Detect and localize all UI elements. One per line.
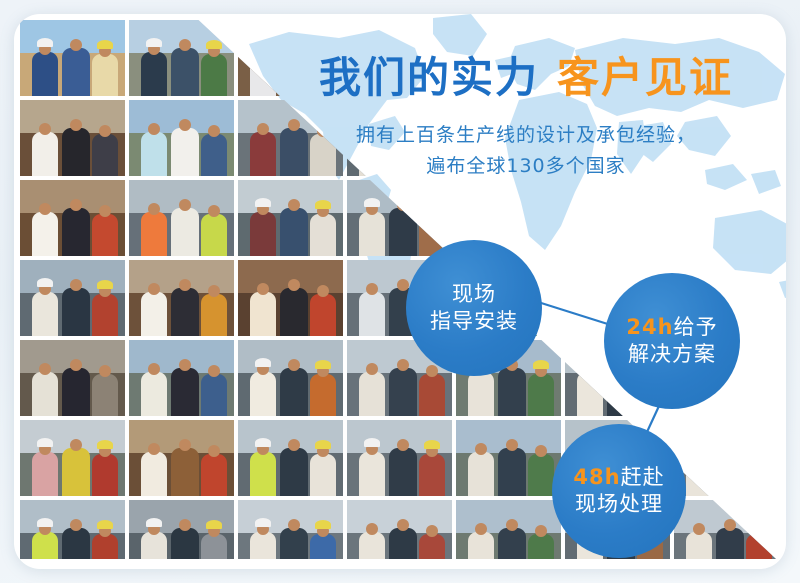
person-figure	[280, 208, 308, 256]
person-head	[39, 123, 51, 135]
photo-cell	[238, 340, 343, 416]
person-head	[179, 519, 191, 531]
photo-cell	[129, 500, 234, 569]
person-figure	[250, 292, 276, 336]
person-head	[70, 119, 82, 131]
person-head	[506, 519, 518, 531]
person-head	[148, 203, 160, 215]
person-head	[535, 205, 547, 217]
person-figure	[141, 212, 167, 256]
person-figure	[92, 454, 118, 496]
person-figure	[310, 454, 336, 496]
photo-cell	[347, 500, 452, 569]
person-figure	[686, 532, 712, 569]
person-head	[70, 199, 82, 211]
photo-thumbnail	[20, 180, 125, 256]
hardhat-icon	[533, 360, 549, 369]
person-figure	[32, 212, 58, 256]
person-figure	[171, 208, 199, 256]
hardhat-icon	[424, 40, 440, 49]
person-figure	[250, 532, 276, 569]
person-figure	[746, 294, 772, 336]
person-figure	[171, 448, 199, 496]
person-head	[70, 519, 82, 531]
person-figure	[577, 372, 603, 416]
photo-thumbnail	[347, 500, 452, 569]
photo-cell	[347, 180, 452, 256]
person-head	[70, 439, 82, 451]
person-head	[99, 365, 111, 377]
person-figure	[280, 528, 308, 569]
person-figure	[359, 452, 385, 496]
person-figure	[92, 294, 118, 336]
person-head	[179, 439, 191, 451]
hardhat-icon	[751, 40, 767, 49]
hardhat-icon	[255, 198, 271, 207]
person-figure	[141, 532, 167, 569]
person-head	[584, 203, 596, 215]
photo-cell	[456, 500, 561, 569]
person-figure	[92, 534, 118, 569]
person-figure	[389, 448, 417, 496]
person-figure	[92, 374, 118, 416]
hardhat-icon	[97, 440, 113, 449]
person-figure	[201, 294, 227, 336]
person-head	[535, 525, 547, 537]
person-figure	[62, 208, 90, 256]
person-head	[506, 199, 518, 211]
hardhat-icon	[424, 440, 440, 449]
photo-cell	[238, 420, 343, 496]
person-figure	[92, 134, 118, 176]
person-head	[753, 205, 765, 217]
person-figure	[686, 212, 712, 256]
photo-cell	[674, 500, 779, 569]
photo-thumbnail	[129, 500, 234, 569]
photo-cell	[129, 420, 234, 496]
person-figure	[716, 448, 744, 496]
person-head	[257, 43, 269, 55]
person-head	[288, 359, 300, 371]
person-head	[70, 359, 82, 371]
photo-cell	[129, 340, 234, 416]
person-figure	[528, 454, 554, 496]
person-figure	[250, 212, 276, 256]
person-figure	[637, 214, 663, 256]
person-figure	[250, 452, 276, 496]
photo-thumbnail	[674, 500, 779, 569]
person-figure	[32, 132, 58, 176]
person-figure	[201, 54, 227, 96]
person-head	[724, 279, 736, 291]
photo-thumbnail	[20, 100, 125, 176]
person-figure	[171, 128, 199, 176]
person-figure	[250, 52, 276, 96]
person-figure	[746, 374, 772, 416]
photo-cell	[456, 420, 561, 496]
person-figure	[32, 52, 58, 96]
circle-2-line-1: 24h给予	[626, 314, 717, 341]
person-head	[39, 203, 51, 215]
person-figure	[141, 372, 167, 416]
connector-1-2	[538, 302, 614, 326]
person-head	[70, 39, 82, 51]
person-head	[148, 363, 160, 375]
person-figure	[716, 208, 744, 256]
person-figure	[310, 534, 336, 569]
photo-thumbnail	[238, 340, 343, 416]
person-figure	[141, 452, 167, 496]
hardhat-icon	[751, 360, 767, 369]
hardhat-icon	[364, 438, 380, 447]
person-head	[288, 439, 300, 451]
person-figure	[141, 132, 167, 176]
person-head	[584, 283, 596, 295]
photo-thumbnail	[129, 20, 234, 96]
person-head	[753, 285, 765, 297]
photo-thumbnail	[238, 500, 343, 569]
hardhat-icon	[255, 518, 271, 527]
photo-cell	[20, 180, 125, 256]
photo-thumbnail	[347, 420, 452, 496]
photo-thumbnail	[20, 500, 125, 569]
person-head	[535, 445, 547, 457]
person-head	[99, 125, 111, 137]
photo-cell	[20, 420, 125, 496]
person-head	[208, 445, 220, 457]
title-secondary: 客户见证	[557, 53, 733, 102]
circle-3-line-2: 现场处理	[575, 491, 663, 518]
photo-cell	[347, 420, 452, 496]
hardhat-icon	[255, 438, 271, 447]
circle-2-highlight: 24h	[626, 315, 673, 339]
photo-cell	[129, 260, 234, 336]
person-figure	[359, 532, 385, 569]
hardhat-icon	[206, 520, 222, 529]
person-figure	[250, 132, 276, 176]
page-title: 我们的实力客户见证	[276, 56, 776, 100]
photo-cell	[129, 20, 234, 96]
hardhat-icon	[37, 518, 53, 527]
hardhat-icon	[146, 38, 162, 47]
person-figure	[468, 452, 494, 496]
photo-thumbnail	[129, 260, 234, 336]
person-head	[148, 443, 160, 455]
photo-thumbnail	[129, 340, 234, 416]
hardhat-icon	[533, 40, 549, 49]
person-figure	[310, 374, 336, 416]
photo-cell	[20, 340, 125, 416]
person-head	[208, 125, 220, 137]
person-head	[397, 39, 409, 51]
person-head	[724, 439, 736, 451]
person-figure	[62, 48, 90, 96]
hardhat-icon	[315, 200, 331, 209]
person-head	[724, 39, 736, 51]
subtitle-line-1: 拥有上百条生产线的设计及承包经验，	[276, 120, 776, 151]
person-head	[615, 39, 627, 51]
person-figure	[310, 214, 336, 256]
person-head	[179, 39, 191, 51]
person-figure	[498, 528, 526, 569]
person-figure	[716, 528, 744, 569]
hardhat-icon	[37, 278, 53, 287]
person-figure	[498, 448, 526, 496]
person-head	[397, 279, 409, 291]
person-figure	[359, 212, 385, 256]
photo-cell	[674, 420, 779, 496]
circle-3-highlight: 48h	[573, 465, 620, 489]
photo-cell	[238, 500, 343, 569]
circle-3-line-1: 48h赶赴	[573, 464, 664, 491]
person-head	[179, 119, 191, 131]
person-figure	[62, 528, 90, 569]
person-figure	[746, 534, 772, 569]
person-head	[475, 523, 487, 535]
person-head	[99, 205, 111, 217]
person-head	[426, 205, 438, 217]
person-figure	[62, 448, 90, 496]
hardhat-icon	[315, 440, 331, 449]
person-head	[179, 359, 191, 371]
person-head	[148, 123, 160, 135]
hardhat-icon	[364, 38, 380, 47]
photo-cell	[20, 260, 125, 336]
person-head	[426, 365, 438, 377]
person-figure	[498, 368, 526, 416]
person-head	[288, 39, 300, 51]
person-figure	[32, 532, 58, 569]
person-figure	[468, 372, 494, 416]
subtitle-line-2: 遍布全球130多个国家	[276, 151, 776, 182]
person-head	[397, 199, 409, 211]
photo-thumbnail	[129, 420, 234, 496]
person-head	[693, 523, 705, 535]
person-figure	[62, 288, 90, 336]
person-figure	[528, 534, 554, 569]
person-figure	[389, 208, 417, 256]
person-head	[397, 359, 409, 371]
circle-1-line-1: 现场	[452, 281, 496, 308]
person-figure	[528, 374, 554, 416]
circle-1-line-2: 指导安装	[430, 308, 518, 335]
person-figure	[280, 368, 308, 416]
photo-cell	[20, 100, 125, 176]
hardhat-icon	[424, 200, 440, 209]
person-figure	[468, 532, 494, 569]
person-head	[397, 439, 409, 451]
person-figure	[280, 288, 308, 336]
photo-cell	[238, 180, 343, 256]
person-figure	[528, 214, 554, 256]
person-figure	[280, 448, 308, 496]
person-figure	[201, 454, 227, 496]
photo-cell	[674, 180, 779, 256]
person-head	[257, 283, 269, 295]
person-figure	[389, 368, 417, 416]
person-figure	[171, 288, 199, 336]
hardhat-icon	[37, 38, 53, 47]
banner-stage: 我们的实力客户见证 拥有上百条生产线的设计及承包经验， 遍布全球130多个国家 …	[0, 0, 800, 583]
photo-thumbnail	[20, 340, 125, 416]
person-figure	[419, 374, 445, 416]
hardhat-icon	[146, 518, 162, 527]
person-figure	[32, 372, 58, 416]
circle-2-line-2: 解决方案	[628, 341, 716, 368]
subtitle: 拥有上百条生产线的设计及承包经验， 遍布全球130多个国家	[276, 120, 776, 183]
person-head	[179, 279, 191, 291]
person-head	[506, 439, 518, 451]
person-head	[753, 445, 765, 457]
photo-thumbnail	[238, 180, 343, 256]
photo-thumbnail	[565, 180, 670, 256]
person-head	[317, 285, 329, 297]
person-head	[39, 363, 51, 375]
person-head	[148, 283, 160, 295]
person-figure	[141, 52, 167, 96]
person-head	[257, 123, 269, 135]
photo-cell	[238, 260, 343, 336]
person-head	[288, 199, 300, 211]
person-head	[288, 519, 300, 531]
photo-thumbnail	[20, 260, 125, 336]
person-head	[366, 283, 378, 295]
person-head	[366, 363, 378, 375]
photo-cell	[129, 180, 234, 256]
photo-thumbnail	[20, 420, 125, 496]
person-figure	[746, 214, 772, 256]
person-head	[288, 279, 300, 291]
person-figure	[201, 534, 227, 569]
person-head	[584, 363, 596, 375]
circle-3-highlight-suffix: 赶赴	[621, 465, 665, 489]
person-figure	[419, 454, 445, 496]
hardhat-icon	[315, 520, 331, 529]
person-figure	[171, 48, 199, 96]
person-head	[753, 525, 765, 537]
person-head	[615, 199, 627, 211]
hardhat-icon	[533, 200, 549, 209]
person-figure	[389, 528, 417, 569]
person-figure	[607, 208, 635, 256]
title-primary: 我们的实力	[319, 53, 539, 102]
hardhat-icon	[97, 280, 113, 289]
hardhat-icon	[691, 38, 707, 47]
person-head	[506, 39, 518, 51]
person-head	[693, 203, 705, 215]
headline-block: 我们的实力客户见证 拥有上百条生产线的设计及承包经验， 遍布全球130多个国家	[276, 56, 776, 183]
person-head	[208, 285, 220, 297]
person-figure	[359, 292, 385, 336]
circle-2-highlight-suffix: 给予	[674, 315, 718, 339]
person-figure	[201, 134, 227, 176]
person-figure	[201, 214, 227, 256]
person-figure	[250, 372, 276, 416]
person-figure	[201, 374, 227, 416]
service-circle-48h-onsite[interactable]: 48h赶赴 现场处理	[552, 424, 686, 558]
hardhat-icon	[37, 438, 53, 447]
person-head	[397, 519, 409, 531]
photo-thumbnail	[238, 260, 343, 336]
person-head	[753, 365, 765, 377]
person-head	[208, 205, 220, 217]
person-head	[426, 525, 438, 537]
hardhat-icon	[255, 358, 271, 367]
photo-thumbnail	[238, 420, 343, 496]
person-head	[644, 205, 656, 217]
person-figure	[92, 54, 118, 96]
person-head	[724, 199, 736, 211]
photo-thumbnail	[20, 20, 125, 96]
person-head	[179, 199, 191, 211]
photo-thumbnail	[456, 500, 561, 569]
person-figure	[310, 294, 336, 336]
person-figure	[92, 214, 118, 256]
hardhat-icon	[315, 360, 331, 369]
banner-card: 我们的实力客户见证 拥有上百条生产线的设计及承包经验， 遍布全球130多个国家 …	[14, 14, 786, 569]
hardhat-icon	[473, 198, 489, 207]
person-figure	[419, 534, 445, 569]
person-head	[366, 523, 378, 535]
hardhat-icon	[364, 198, 380, 207]
service-circle-24h-solution[interactable]: 24h给予 解决方案	[604, 273, 740, 409]
person-head	[615, 279, 627, 291]
person-figure	[746, 454, 772, 496]
hardhat-icon	[97, 40, 113, 49]
photo-thumbnail	[456, 420, 561, 496]
photo-cell	[20, 20, 125, 96]
person-head	[208, 365, 220, 377]
photo-cell	[129, 100, 234, 176]
photo-cell	[565, 180, 670, 256]
photo-cell	[20, 500, 125, 569]
person-figure	[62, 368, 90, 416]
person-figure	[62, 128, 90, 176]
photo-thumbnail	[129, 100, 234, 176]
person-figure	[171, 368, 199, 416]
photo-thumbnail	[129, 180, 234, 256]
person-figure	[32, 452, 58, 496]
photo-thumbnail	[347, 180, 452, 256]
person-head	[70, 279, 82, 291]
person-head	[724, 519, 736, 531]
hardhat-icon	[97, 520, 113, 529]
person-figure	[577, 212, 603, 256]
person-figure	[359, 372, 385, 416]
person-head	[475, 203, 487, 215]
person-figure	[686, 452, 712, 496]
hardhat-icon	[473, 38, 489, 47]
hardhat-icon	[206, 40, 222, 49]
person-figure	[171, 528, 199, 569]
person-head	[693, 443, 705, 455]
person-figure	[141, 292, 167, 336]
photo-thumbnail	[674, 420, 779, 496]
service-circle-on-site-installation[interactable]: 现场 指导安装	[406, 240, 542, 376]
photo-thumbnail	[674, 180, 779, 256]
person-figure	[577, 292, 603, 336]
person-figure	[32, 292, 58, 336]
person-head	[475, 443, 487, 455]
